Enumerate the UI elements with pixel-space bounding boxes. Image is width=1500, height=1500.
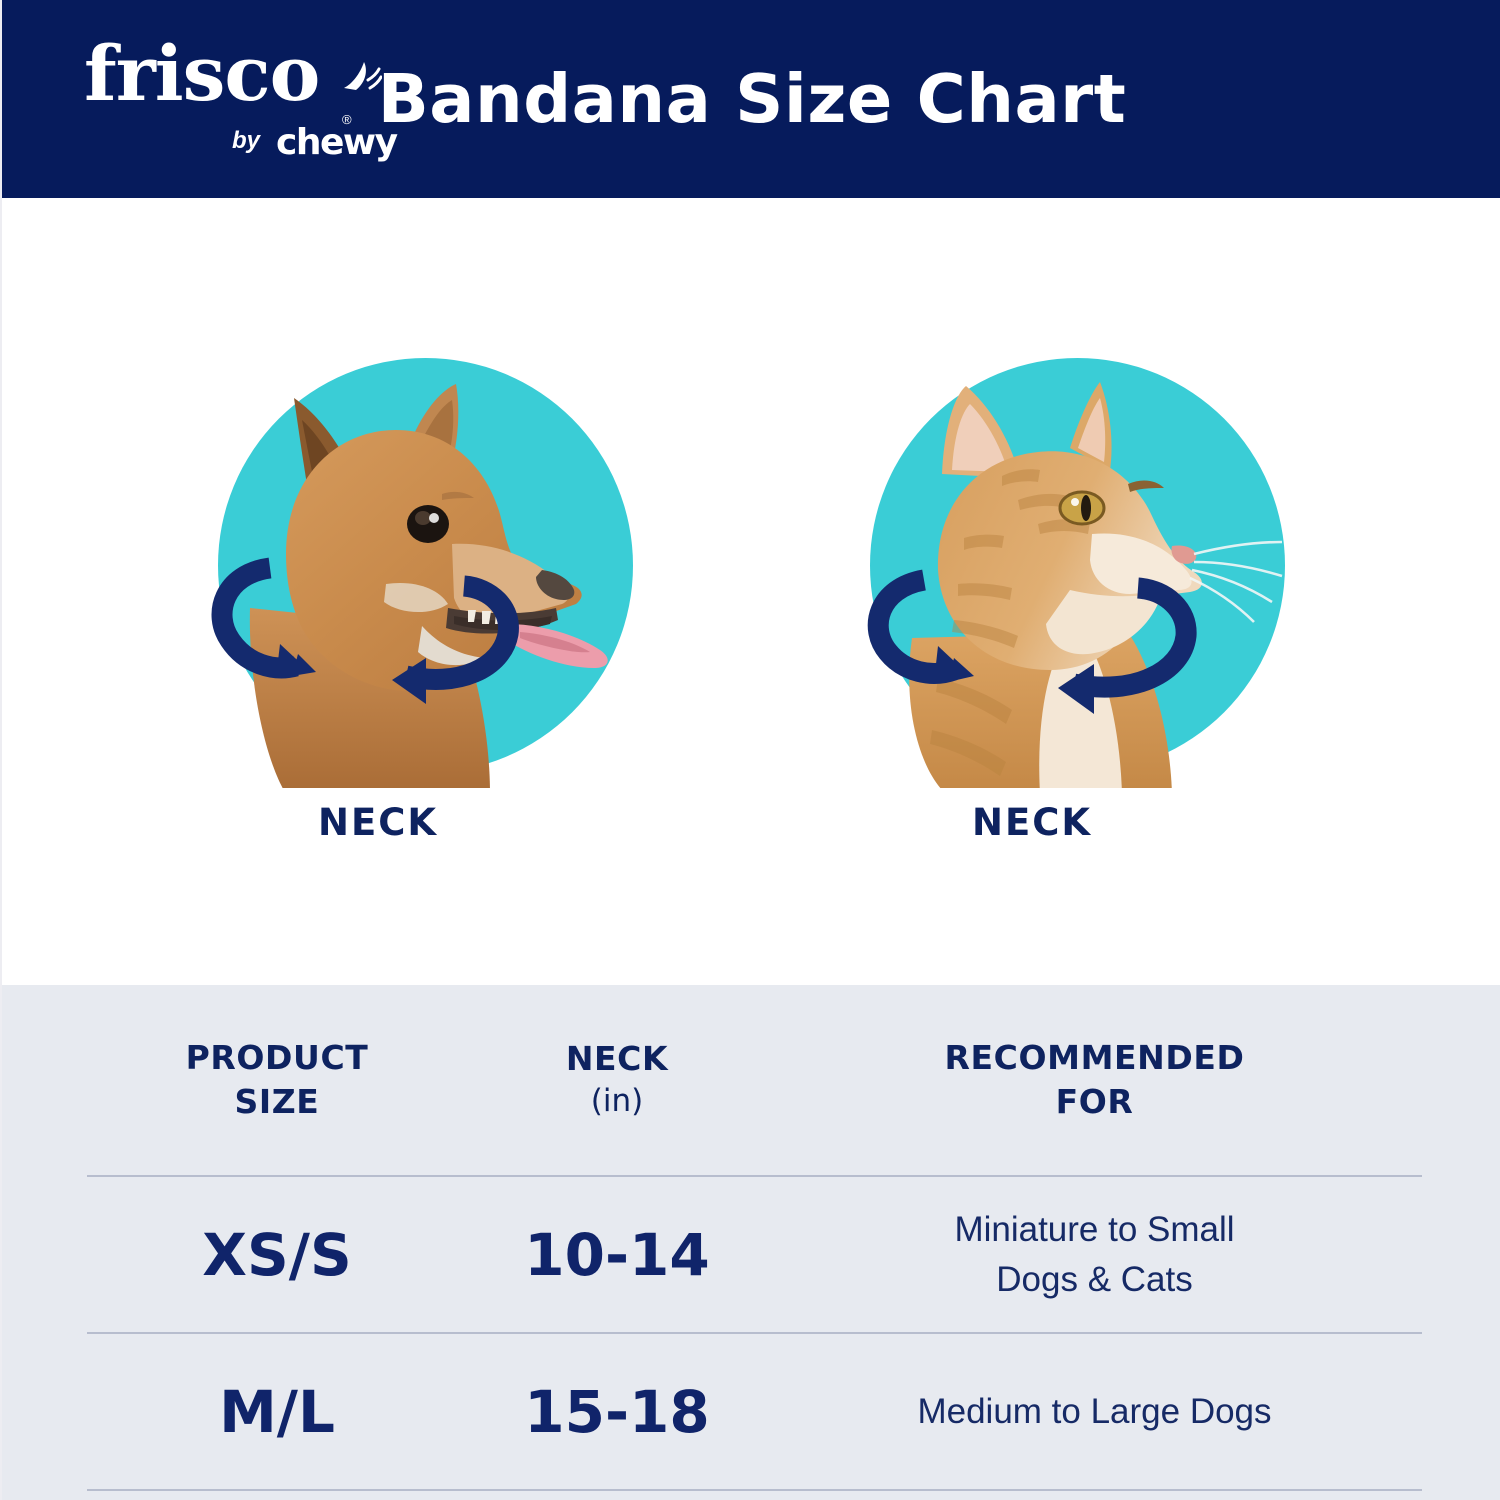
- cat-neck-measure-arrow-icon: [842, 358, 1312, 788]
- table-divider: [87, 1175, 1422, 1177]
- dog-neck-label: NECK: [190, 801, 660, 844]
- cell-neck-range: 15-18: [467, 1378, 767, 1446]
- cat-measure-illustration: NECK: [842, 358, 1312, 878]
- brand-name-chewy: chewy: [276, 122, 397, 163]
- table-header-row: PRODUCT SIZE NECK (in) RECOMMENDED FOR: [87, 985, 1422, 1175]
- dog-measure-illustration: NECK: [190, 358, 660, 878]
- cell-recommended-for: Miniature to Small Dogs & Cats: [767, 1205, 1422, 1304]
- brand-name-frisco: frisco: [84, 36, 319, 112]
- column-header-recommended-for-line2: FOR: [767, 1080, 1422, 1124]
- brand-by-label: by: [232, 127, 260, 155]
- cell-recommended-for-line1: Medium to Large Dogs: [767, 1387, 1422, 1437]
- cat-neck-label: NECK: [842, 801, 1312, 844]
- logo-swoosh-icon: [338, 58, 382, 102]
- illustration-band: NECK: [2, 198, 1500, 985]
- column-header-recommended-for-line1: RECOMMENDED: [767, 1036, 1422, 1080]
- cell-product-size: M/L: [87, 1378, 467, 1446]
- table-divider: [87, 1489, 1422, 1491]
- frisco-by-chewy-logo: frisco ® by chewy: [80, 30, 380, 170]
- column-header-neck-unit: (in): [467, 1081, 767, 1122]
- page-header: Bandana Size Chart frisco ® by chewy: [2, 0, 1500, 198]
- cell-product-size: XS/S: [87, 1221, 467, 1289]
- column-header-neck-line1: NECK: [467, 1037, 767, 1081]
- column-header-product-size-line1: PRODUCT: [87, 1036, 467, 1080]
- cell-neck-range: 10-14: [467, 1221, 767, 1289]
- dog-neck-measure-arrow-icon: [190, 358, 660, 788]
- table-row: XS/S 10-14 Miniature to Small Dogs & Cat…: [87, 1177, 1422, 1332]
- cell-recommended-for-line2: Dogs & Cats: [767, 1255, 1422, 1305]
- column-header-recommended-for: RECOMMENDED FOR: [767, 1036, 1422, 1124]
- table-divider: [87, 1332, 1422, 1334]
- size-chart-table: PRODUCT SIZE NECK (in) RECOMMENDED FOR X…: [2, 985, 1500, 1500]
- column-header-product-size-line2: SIZE: [87, 1080, 467, 1124]
- cell-recommended-for: Medium to Large Dogs: [767, 1387, 1422, 1437]
- column-header-product-size: PRODUCT SIZE: [87, 1036, 467, 1124]
- cell-recommended-for-line1: Miniature to Small: [767, 1205, 1422, 1255]
- column-header-neck: NECK (in): [467, 1037, 767, 1122]
- table-row: M/L 15-18 Medium to Large Dogs: [87, 1334, 1422, 1489]
